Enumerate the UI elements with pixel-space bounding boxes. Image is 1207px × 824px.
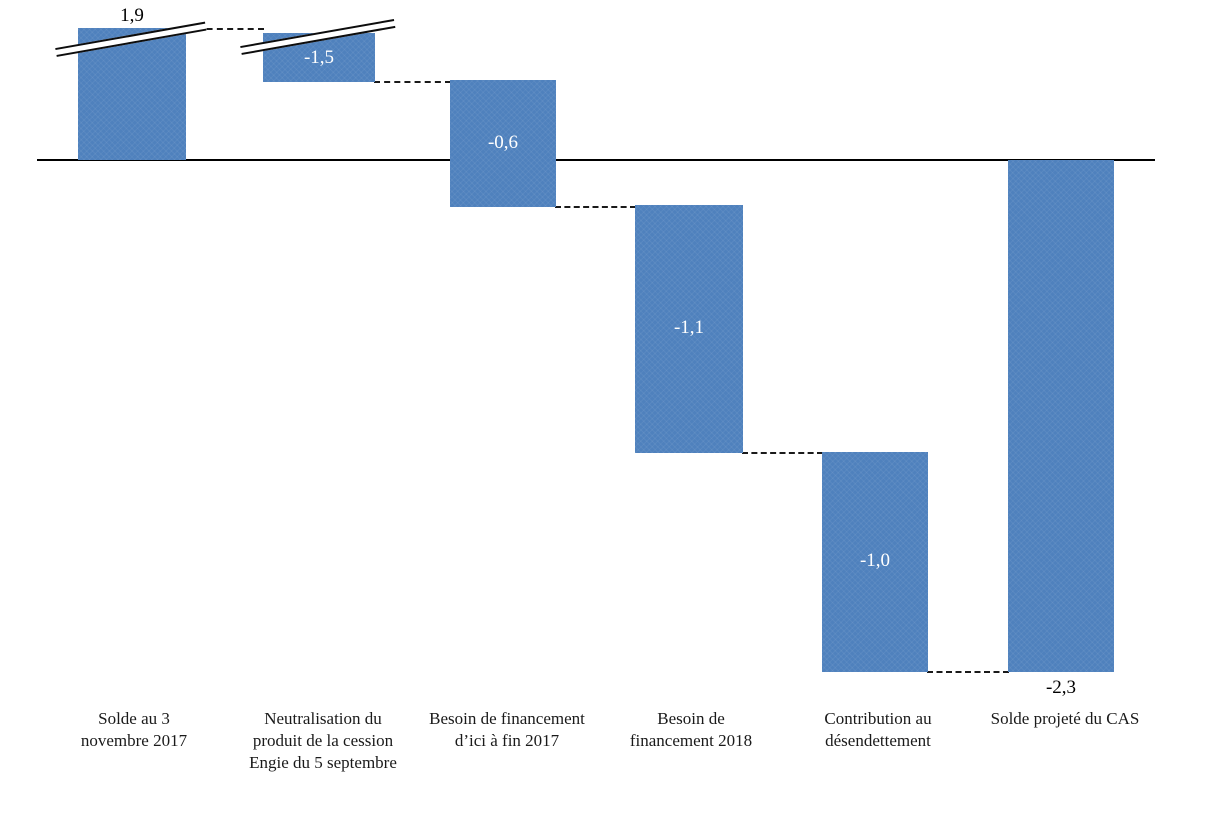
bar-solde-projete-cas[interactable] bbox=[1008, 160, 1114, 672]
value-label-contribution-desendettement: -1,0 bbox=[822, 551, 928, 570]
category-label-5: Solde projeté du CAS bbox=[972, 708, 1158, 730]
connector-4 bbox=[742, 452, 823, 454]
category-label-3: Besoin de financement 2018 bbox=[604, 708, 778, 752]
value-label-solde-3-novembre-2017: 1,9 bbox=[78, 6, 186, 25]
category-label-1: Neutralisation du produit de la cession … bbox=[228, 708, 418, 773]
value-label-besoin-financement-2018: -1,1 bbox=[635, 318, 743, 337]
connector-2 bbox=[374, 81, 451, 83]
waterfall-chart: 1,9-1,5-0,6-1,1-1,0-2,3 Solde au 3 novem… bbox=[0, 0, 1207, 824]
value-label-besoin-financement-fin-2017: -0,6 bbox=[450, 133, 556, 152]
value-label-neutralisation-cession-engie: -1,5 bbox=[263, 48, 375, 67]
plot-area: 1,9-1,5-0,6-1,1-1,0-2,3 Solde au 3 novem… bbox=[0, 0, 1207, 824]
category-label-4: Contribution au désendettement bbox=[792, 708, 964, 752]
connector-3 bbox=[555, 206, 636, 208]
connector-5 bbox=[927, 671, 1009, 673]
zero-axis-line bbox=[37, 159, 1155, 161]
value-label-solde-projete-cas: -2,3 bbox=[1008, 678, 1114, 697]
category-label-0: Solde au 3 novembre 2017 bbox=[46, 708, 222, 752]
category-label-2: Besoin de financement d’ici à fin 2017 bbox=[412, 708, 602, 752]
